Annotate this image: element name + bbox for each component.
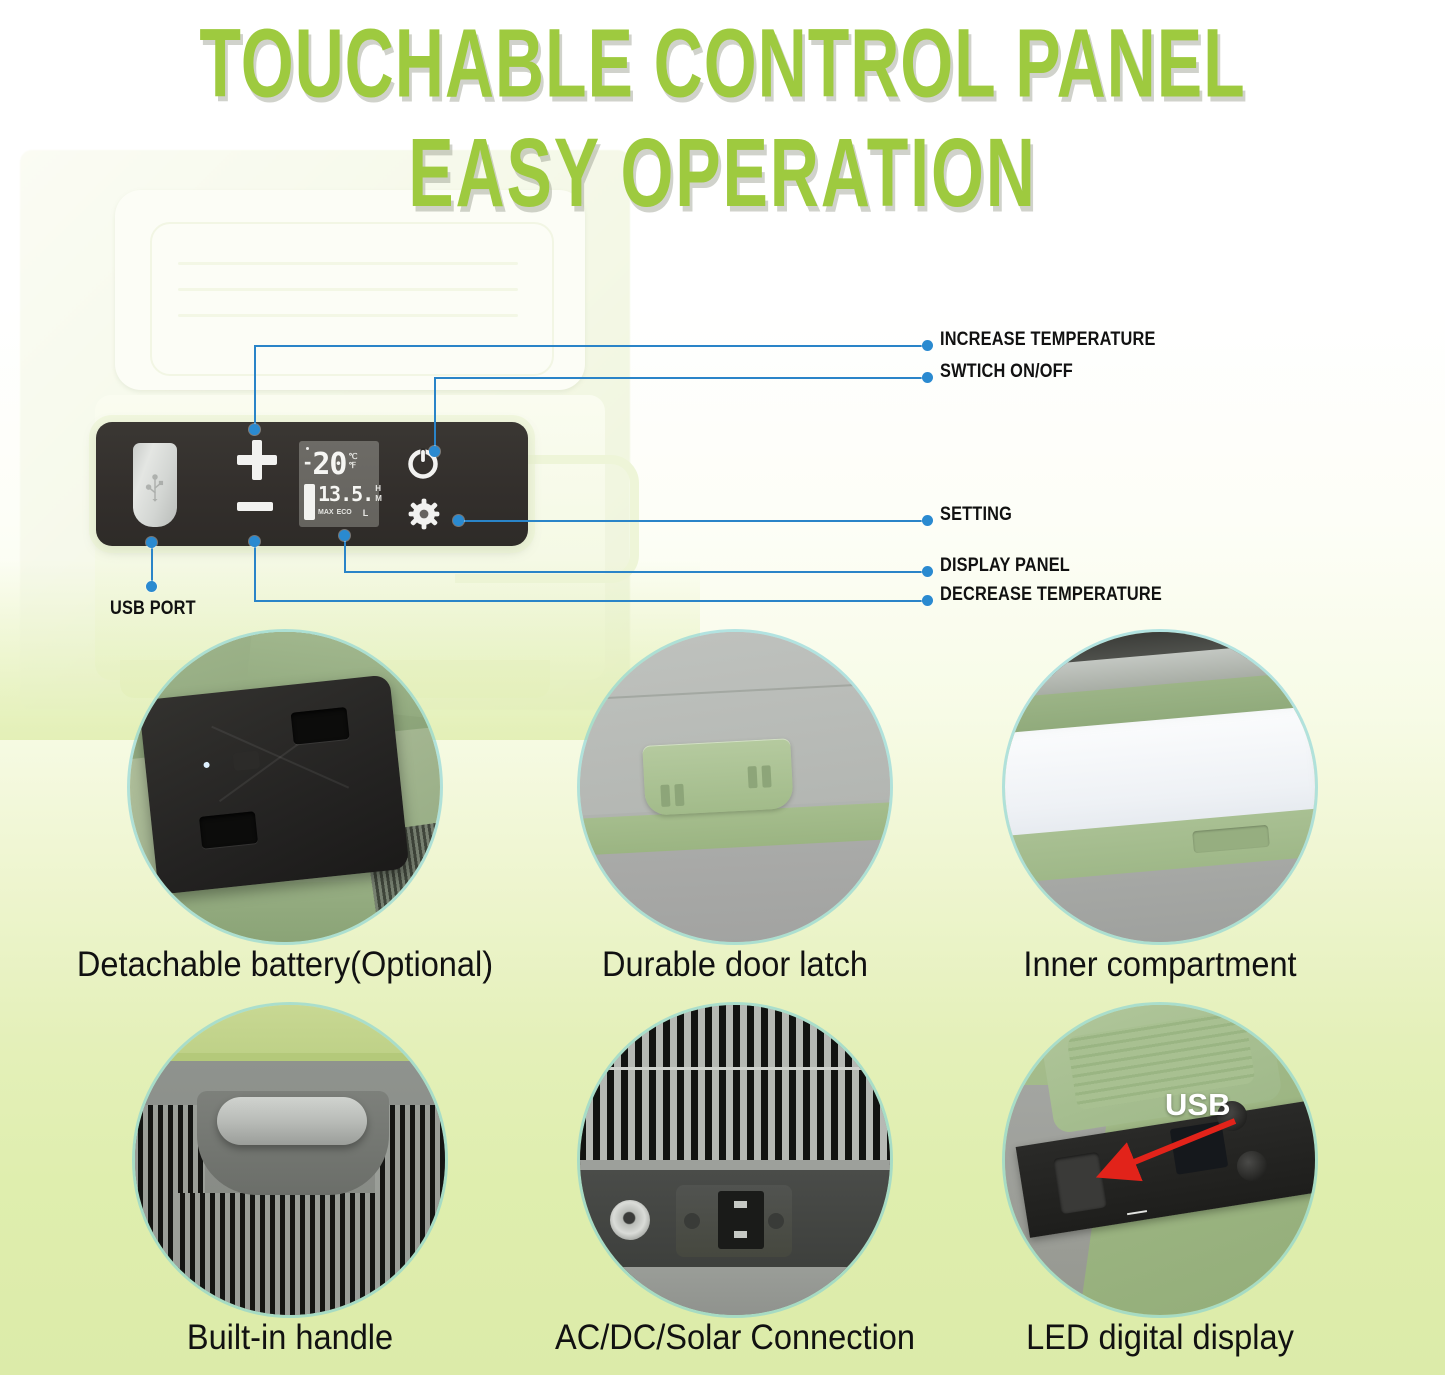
feature-photo-built-in-handle [135, 1005, 445, 1315]
leader-dot-increase-anchor [249, 424, 260, 435]
callout-label-setting: SETTING [940, 504, 1012, 526]
leader-dot-display-label [922, 566, 933, 577]
lcd-mode-lr: L [363, 509, 369, 517]
headline-line-2: EASY OPERATION [58, 86, 1387, 223]
callout-label-increase-temperature: INCREASE TEMPERATURE [940, 329, 1156, 351]
headline-block: TOUCHABLE CONTROL PANEL EASY OPERATION [0, 0, 1445, 190]
display-panel-lcd: - 20 ℃ ℉ 13.5. H M MAX ECO L [299, 441, 379, 527]
lcd-unit-m: M [375, 494, 382, 504]
infographic-page: TOUCHABLE CONTROL PANEL EASY OPERATION - [0, 0, 1445, 1375]
leader-usb-vertical [151, 542, 153, 586]
feature-photo-ac-dc-solar-connection [580, 1005, 890, 1315]
callout-label-usb-port: USB PORT [110, 598, 196, 620]
leader-dot-increase-label [922, 340, 933, 351]
leader-increase-vertical [254, 345, 256, 430]
feature-caption-detachable-battery: Detachable battery(Optional) [66, 945, 503, 985]
leader-dot-switch-anchor [429, 446, 440, 457]
lcd-voltage-value: 13.5. [318, 484, 373, 504]
lcd-battery-bar-icon [304, 484, 315, 520]
feature-caption-led-digital-display: LED digital display [941, 1318, 1378, 1358]
control-panel: - 20 ℃ ℉ 13.5. H M MAX ECO L [96, 422, 528, 546]
feature-photo-detachable-battery [130, 632, 440, 942]
leader-switch-vertical [434, 377, 436, 452]
leader-setting-horizontal [458, 520, 928, 522]
leader-decrease-vertical [254, 541, 256, 601]
callout-label-display-panel: DISPLAY PANEL [940, 555, 1070, 577]
leader-dot-usb-anchor [146, 537, 157, 548]
increase-temperature-button[interactable] [237, 440, 277, 480]
callout-label-decrease-temperature: DECREASE TEMPERATURE [940, 584, 1162, 606]
usb-port-slot[interactable] [133, 443, 177, 527]
lcd-mode-eco: ECO [337, 509, 352, 517]
decrease-temperature-button[interactable] [237, 502, 273, 511]
callout-label-switch-on-off: SWTICH ON/OFF [940, 361, 1073, 383]
feature-caption-built-in-handle: Built-in handle [71, 1318, 508, 1358]
leader-dot-setting-label [922, 515, 933, 526]
leader-switch-horizontal [434, 377, 928, 379]
leader-increase-horizontal [254, 345, 928, 347]
feature-caption-durable-door-latch: Durable door latch [516, 945, 953, 985]
usb-icon [144, 473, 166, 503]
dc-barrel-jack [610, 1200, 650, 1240]
leader-dot-usb-label [146, 581, 157, 592]
lcd-unit-celsius: ℃ [348, 452, 357, 461]
lcd-mode-max: MAX [318, 509, 334, 517]
gear-icon[interactable] [408, 498, 440, 530]
leader-dot-display-anchor [339, 530, 350, 541]
feature-caption-inner-compartment: Inner compartment [941, 945, 1378, 985]
feature-caption-ac-dc-solar-connection: AC/DC/Solar Connection [516, 1318, 953, 1358]
feature-photo-durable-door-latch [580, 632, 890, 942]
leader-display-horizontal [344, 571, 928, 573]
leader-dot-switch-label [922, 372, 933, 383]
leader-decrease-horizontal [254, 600, 928, 602]
leader-dot-decrease-label [922, 595, 933, 606]
leader-dot-decrease-anchor [249, 536, 260, 547]
feature-photo-led-digital-display: + — USB [1005, 1005, 1315, 1315]
leader-dot-setting-anchor [453, 515, 464, 526]
lcd-unit-fahrenheit: ℉ [348, 461, 357, 470]
lcd-minus-sign: - [304, 451, 311, 473]
red-arrow-icon [1085, 1115, 1245, 1185]
lcd-temperature-value: 20 [312, 451, 346, 479]
lcd-unit-h: H [375, 484, 382, 494]
feature-photo-inner-compartment [1005, 632, 1315, 942]
